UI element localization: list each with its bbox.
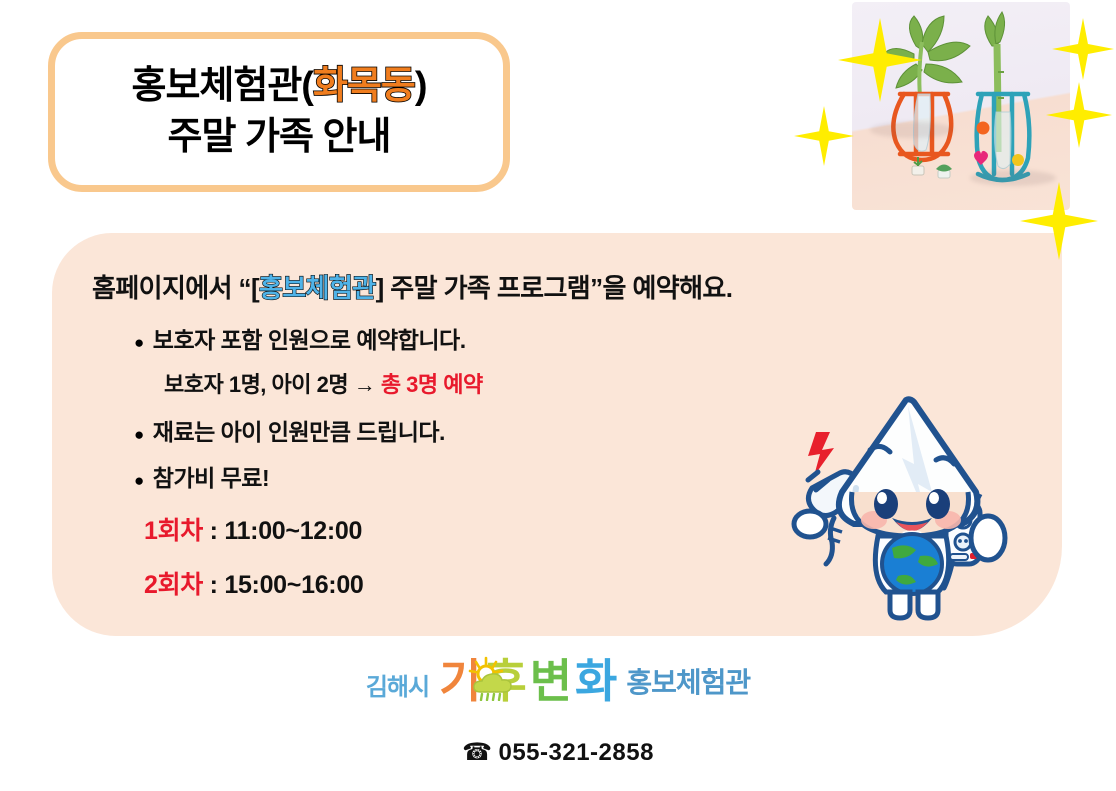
title-text-post: ): [415, 65, 427, 107]
logo-city-name: 김해시: [366, 667, 429, 702]
title-line-1: 홍보체험관(화목동): [131, 61, 426, 112]
sparkle-icon: [794, 106, 854, 166]
title-box: 홍보체험관(화목동) 주말 가족 안내: [48, 32, 510, 192]
session-row: 2회차 : 15:00~16:00: [144, 565, 812, 601]
session-separator: :: [203, 517, 224, 545]
sparkle-icon: [1052, 18, 1114, 80]
contact-phone: ☎055-321-2858: [0, 738, 1116, 767]
mascot-character: [786, 396, 1038, 628]
session-time: 11:00~12:00: [224, 517, 362, 545]
bullet-label: 보호자 포함 인원으로 예약합니다.: [153, 321, 466, 355]
logo-suffix: 홍보체험관: [626, 661, 750, 701]
headline: 홈페이지에서 “[홍보체험관] 주말 가족 프로그램”을 예약해요.: [92, 268, 812, 305]
session-time: 15:00~16:00: [224, 571, 363, 599]
sub-note: 보호자 1명, 아이 2명 → 총 3명 예약: [164, 367, 812, 399]
logo-row: 김해시 기 후 변 화 홍보체험관: [366, 660, 750, 704]
sparkle-icon: [1020, 182, 1098, 260]
session-separator: :: [203, 571, 224, 599]
headline-highlight: 홍보체험관: [259, 273, 376, 303]
organization-logo: 김해시 기 후 변 화 홍보체험관: [0, 660, 1116, 704]
title-text-accent: 화목동: [313, 65, 415, 107]
headline-post: ] 주말 가족 프로그램”을 예약해요.: [376, 273, 733, 303]
session-label: 2회차: [144, 571, 203, 599]
phone-number: 055-321-2858: [498, 739, 653, 766]
bullet-item: ● 참가비 무료!: [134, 459, 812, 493]
logo-char-4: 화: [575, 660, 616, 704]
headline-pre: 홈페이지에서 “[: [92, 273, 259, 303]
bullet-label: 재료는 아이 인원만큼 드립니다.: [153, 413, 445, 447]
session-label: 1회차: [144, 517, 203, 545]
sparkle-icon: [838, 18, 922, 102]
sun-cloud-rain-icon: [462, 655, 528, 701]
poster-canvas: 홍보체험관(화목동) 주말 가족 안내 홈페이지에서 “[홍보체험관] 주말 가…: [0, 0, 1116, 791]
bullet-item: ● 재료는 아이 인원만큼 드립니다.: [134, 413, 812, 447]
body-text-block: 홈페이지에서 “[홍보체험관] 주말 가족 프로그램”을 예약해요. ● 보호자…: [92, 268, 812, 601]
bullet-label: 참가비 무료!: [153, 459, 269, 493]
title-line-2: 주말 가족 안내: [168, 112, 391, 163]
sparkle-icon: [1046, 82, 1112, 148]
session-row: 1회차 : 11:00~12:00: [144, 511, 812, 547]
sub-note-black: 보호자 1명, 아이 2명 →: [164, 372, 381, 397]
sub-note-red: 총 3명 예약: [381, 372, 483, 397]
bullet-dot-icon: ●: [134, 426, 144, 443]
bullet-dot-icon: ●: [134, 334, 144, 351]
bullet-item: ● 보호자 포함 인원으로 예약합니다.: [134, 321, 812, 355]
bullet-dot-icon: ●: [134, 472, 144, 489]
telephone-icon: ☎: [462, 739, 492, 766]
photo-shadow-left: [870, 122, 954, 138]
logo-char-3: 변: [530, 660, 571, 704]
title-text-pre: 홍보체험관(: [131, 65, 312, 107]
